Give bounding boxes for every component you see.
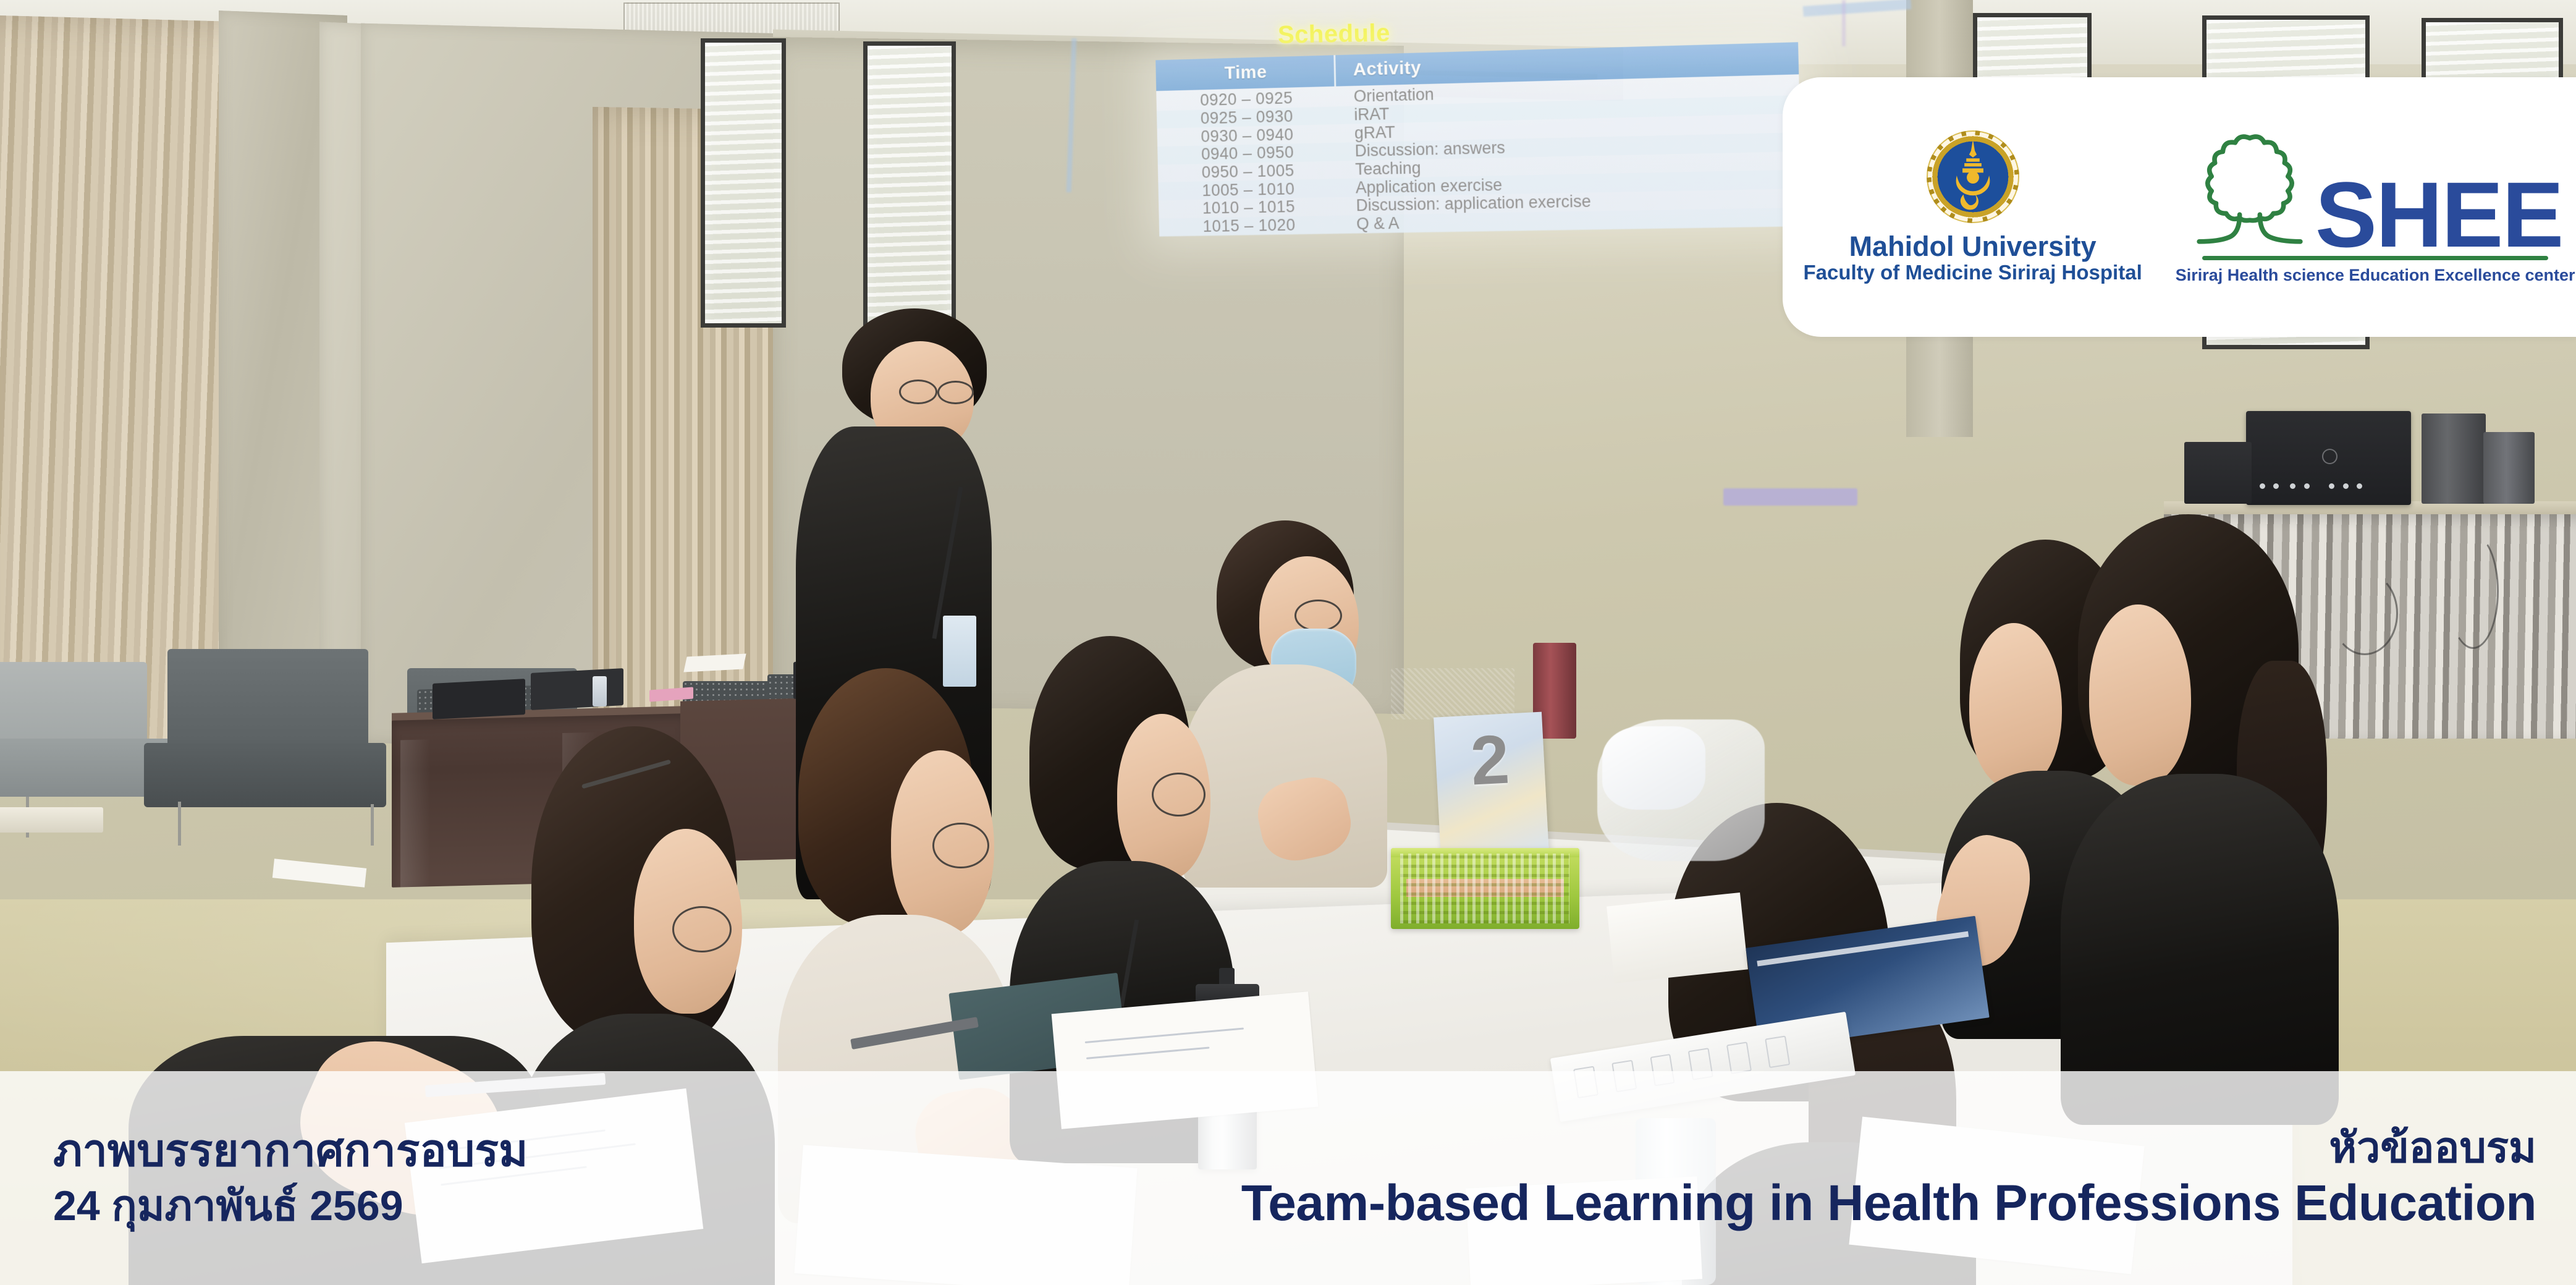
projection-edge: [1842, 0, 1846, 46]
seal-emblem-icon: [1949, 138, 1997, 214]
schedule-activity: Teaching: [1339, 159, 1421, 179]
person-participant-right-2: [2061, 514, 2344, 1080]
mahidol-faculty-name: Faculty of Medicine Siriraj Hospital: [1803, 261, 2142, 284]
window: [863, 41, 956, 350]
cable: [2447, 533, 2499, 649]
furniture-leg: [371, 804, 374, 846]
caption-date: 24 กุมภาพันธ์ 2569: [53, 1181, 528, 1232]
shee-underline: [2202, 256, 2548, 260]
mahidol-university-seal-icon: [1927, 130, 2019, 223]
schedule-time: 1015 – 1020: [1159, 215, 1340, 237]
slide-title: Schedule: [1277, 20, 1390, 49]
patterned-bottle: [1391, 668, 1514, 719]
table-number-value: 2: [1434, 718, 1547, 803]
mahidol-university-name: Mahidol University: [1849, 232, 2097, 262]
tissue: [1602, 726, 1705, 810]
projected-schedule-slide: Time Activity 0920 – 0925Orientation0925…: [1156, 42, 1803, 236]
logo-panel: Mahidol University Faculty of Medicine S…: [1783, 77, 2576, 337]
document-stack: [1607, 893, 1748, 983]
caption-bar: ภาพบรรยากาศการอบรม 24 กุมภาพันธ์ 2569 หั…: [0, 1071, 2576, 1285]
av-rack-unit: [2184, 442, 2251, 504]
armchair-seat: [144, 743, 386, 807]
caption-left: ภาพบรรยากาศการอบรม 24 กุมภาพันธ์ 2569: [0, 1124, 528, 1232]
shee-acronym: SHEE: [2315, 177, 2562, 253]
side-table: [0, 807, 103, 833]
computer-tower: [2422, 413, 2486, 504]
mahidol-logo-block: Mahidol University Faculty of Medicine S…: [1803, 130, 2142, 284]
table-number-card: 2: [1434, 711, 1549, 859]
caption-right: หัวข้ออบรม Team-based Learning in Health…: [1241, 1123, 2576, 1234]
basket-mesh: [1400, 854, 1569, 923]
schedule-activity: iRAT: [1338, 104, 1390, 125]
caption-topic-title: Team-based Learning in Health Profession…: [1241, 1174, 2536, 1234]
caption-heading: ภาพบรรยากาศการอบรม: [53, 1124, 528, 1179]
schedule-activity: Q & A: [1340, 214, 1400, 234]
laptop: [531, 668, 623, 710]
caption-topic-label: หัวข้ออบรม: [1241, 1123, 2536, 1173]
computer-tower: [2483, 432, 2535, 504]
laptop: [433, 679, 525, 719]
column-header-activity: Activity: [1337, 58, 1422, 81]
column-header-time: Time: [1156, 61, 1337, 86]
furniture-leg: [178, 802, 181, 846]
shee-wordmark-row: SHEE: [2188, 129, 2562, 253]
shee-tree-icon: [2188, 129, 2312, 253]
water-bottle: [593, 676, 607, 707]
shee-full-name: Siriraj Health science Education Excelle…: [2176, 266, 2575, 285]
schedule-activity: gRAT: [1338, 123, 1395, 143]
av-controls: [2257, 483, 2396, 496]
slide-footer-bar: [1723, 488, 1857, 506]
green-basket: [1391, 848, 1579, 929]
window: [701, 38, 786, 328]
shee-logo-block: SHEE Siriraj Health science Education Ex…: [2176, 129, 2575, 285]
banner-canvas: Schedule Time Activity 0920 – 0925Orient…: [0, 0, 2576, 1285]
